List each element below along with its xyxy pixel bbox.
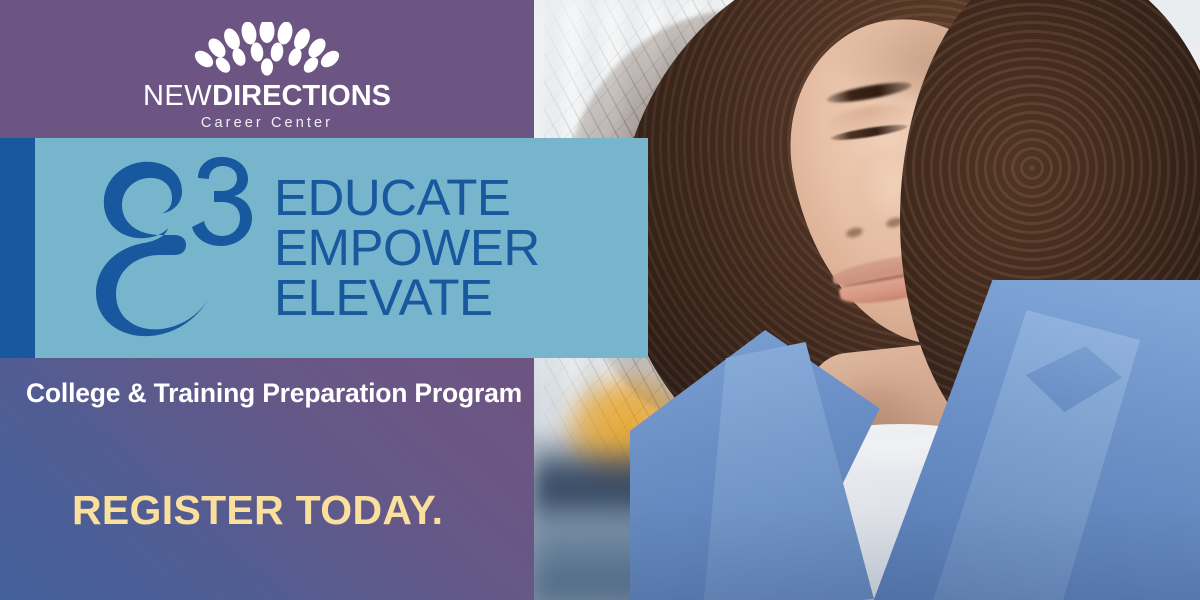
promotional-banner: NEWDIRECTIONS Career Center EDUCATE EMPO… <box>0 0 1200 600</box>
pillar-elevate: ELEVATE <box>274 273 540 323</box>
organization-logo[interactable]: NEWDIRECTIONS Career Center <box>0 22 534 131</box>
logo-name-bold: DIRECTIONS <box>212 80 391 112</box>
logo-name-light: NEW <box>143 80 212 112</box>
logo-subtitle: Career Center <box>0 115 534 131</box>
petal-fan-icon <box>169 22 365 78</box>
e-cubed-logo-icon <box>78 148 268 348</box>
register-cta[interactable]: REGISTER TODAY. <box>72 487 443 534</box>
program-tagline: College & Training Preparation Program <box>26 378 522 409</box>
pillar-empower: EMPOWER <box>274 223 540 273</box>
logo-wordmark: NEWDIRECTIONS <box>0 81 534 111</box>
program-pillars: EDUCATE EMPOWER ELEVATE <box>274 173 540 323</box>
pillar-educate: EDUCATE <box>274 173 540 223</box>
program-band-content: EDUCATE EMPOWER ELEVATE <box>0 138 648 358</box>
